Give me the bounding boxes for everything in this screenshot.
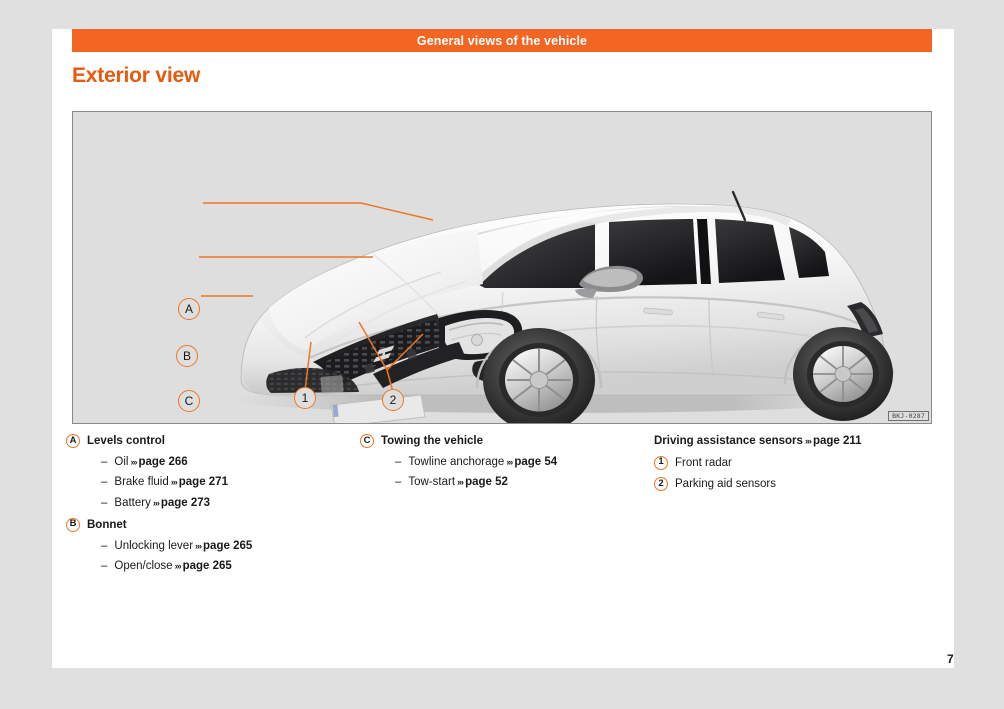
legend-item-reference[interactable]: ›››page 266 [128,456,187,469]
page-ref-chevron-icon: ››› [504,457,514,467]
legend-group-b-heading: B Bonnet [66,518,366,532]
legend-item-open-close: – Open/close ›››page 265 [66,560,366,573]
page-ref-label: page 54 [514,456,557,468]
legend-item-label: Open/close [114,560,172,573]
legend-column-3: Driving assistance sensors ›››page 211 1… [654,434,954,499]
callout-marker-b: B [176,345,198,367]
legend-marker-b: B [66,518,80,532]
page-ref-chevron-icon: ››› [803,436,813,446]
callout-marker-a: A [178,298,200,320]
page-ref-chevron-icon: ››› [151,498,161,508]
legend-item-front-radar: 1 Front radar [654,456,954,470]
legend-item-reference[interactable]: ›››page 265 [173,560,232,573]
legend-item-label: Oil [114,456,128,469]
callout-marker-c: C [178,390,200,412]
page-ref-chevron-icon: ››› [128,457,138,467]
legend-marker-1: 1 [654,456,668,470]
legend-heading-towing: Towing the vehicle [381,434,483,448]
page-ref-label: page 266 [138,456,187,468]
bullet-dash: – [395,456,401,469]
legend-heading-driving-assistance-sensors: Driving assistance sensors [654,434,803,448]
legend-item-reference[interactable]: ›››page 271 [169,476,228,489]
figure-code: BKJ-0287 [888,411,929,422]
vehicle-figure: A B C 1 2 BKJ-0287 [72,111,932,424]
legend-column-2: C Towing the vehicle – Towline anchorage… [360,434,650,497]
legend-item-label: Unlocking lever [114,540,193,553]
legend-item-tow-start: – Tow-start ›››page 52 [360,476,650,489]
legend-item-label: Tow-start [408,476,455,489]
legend-item-label: Front radar [675,456,732,470]
legend-heading-driving-assistance-sensors-row: Driving assistance sensors ›››page 211 [654,434,954,448]
legend-item-label: Parking aid sensors [675,477,776,491]
bullet-dash: – [101,540,107,553]
chapter-banner: General views of the vehicle [72,29,932,52]
legend-item-reference[interactable]: ›››page 265 [193,540,252,553]
bullet-dash: – [101,476,107,489]
legend-item-battery: – Battery ›››page 273 [66,497,366,510]
legend-heading-bonnet: Bonnet [87,518,127,532]
legend-item-oil: – Oil ›››page 266 [66,456,366,469]
page-ref-chevron-icon: ››› [193,541,203,551]
bullet-dash: – [395,476,401,489]
legend-column-1: A Levels control – Oil ›››page 266 – Bra… [66,434,366,581]
page-ref-label: page 273 [161,497,210,509]
page-ref-label: page 265 [203,540,252,552]
page-ref-chevron-icon: ››› [169,477,179,487]
legend-item-parking-aid-sensors: 2 Parking aid sensors [654,477,954,491]
legend-heading-levels-control: Levels control [87,434,165,448]
legend-marker-2: 2 [654,477,668,491]
legend-group-c-heading: C Towing the vehicle [360,434,650,448]
page-ref-chevron-icon: ››› [173,561,183,571]
legend-item-towline-anchorage: – Towline anchorage ›››page 54 [360,456,650,469]
legend-item-label: Brake fluid [114,476,168,489]
legend-item-unlocking-lever: – Unlocking lever ›››page 265 [66,540,366,553]
legend-marker-a: A [66,434,80,448]
page-ref-label: page 52 [465,476,508,488]
legend-item-label: Battery [114,497,150,510]
page-ref-chevron-icon: ››› [455,477,465,487]
callout-marker-1: 1 [294,387,316,409]
callout-marker-2: 2 [382,389,404,411]
legend-marker-c: C [360,434,374,448]
page-ref-label: page 271 [179,476,228,488]
page-ref-label: page 265 [183,560,232,572]
legend-item-reference[interactable]: ›››page 273 [151,497,210,510]
legend-heading-reference[interactable]: ›››page 211 [803,434,862,448]
legend-item-reference[interactable]: ›››page 54 [504,456,557,469]
bullet-dash: – [101,497,107,510]
legend-item-label: Towline anchorage [408,456,504,469]
bullet-dash: – [101,456,107,469]
bullet-dash: – [101,560,107,573]
page-number: 7 [947,652,954,666]
page-ref-label: page 211 [813,435,862,447]
legend-group-a-heading: A Levels control [66,434,366,448]
page-title: Exterior view [72,64,200,88]
legend-item-reference[interactable]: ›››page 52 [455,476,508,489]
chapter-banner-title: General views of the vehicle [417,34,587,48]
legend-item-brake-fluid: – Brake fluid ›››page 271 [66,476,366,489]
vehicle-illustration [73,112,931,423]
